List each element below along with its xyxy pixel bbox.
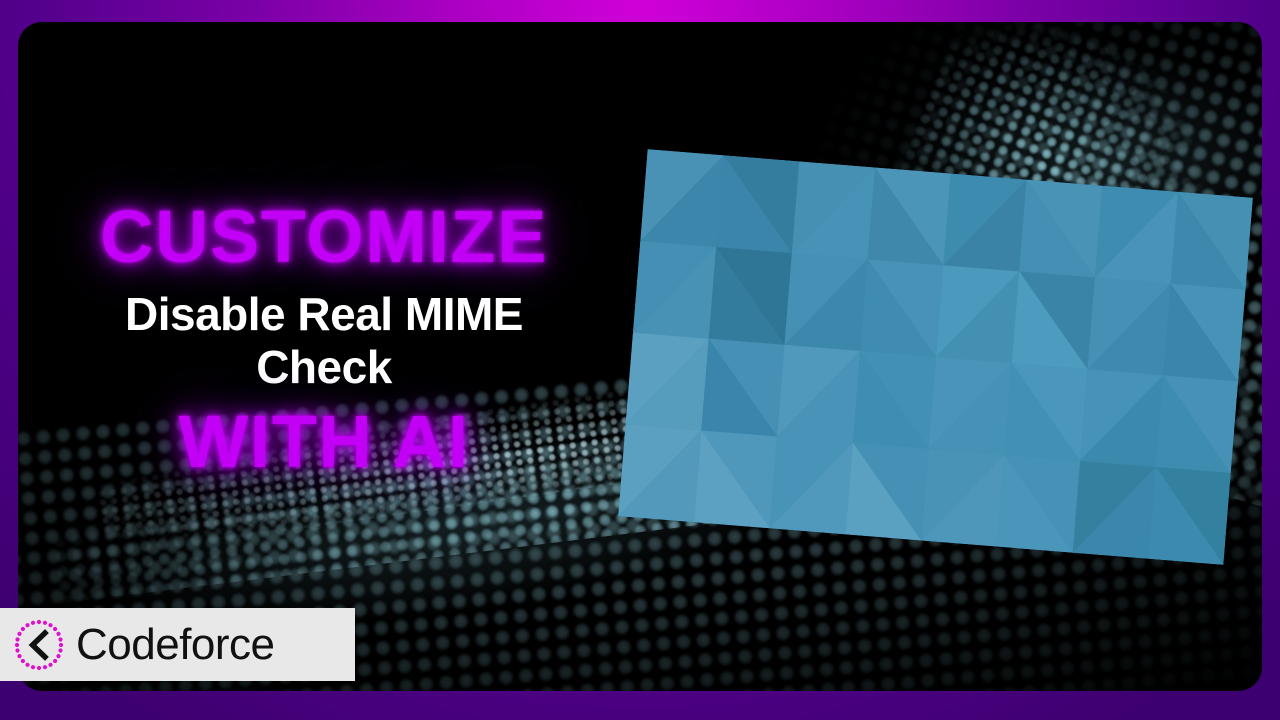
thumbnail-frame: CUSTOMIZE Disable Real MIME Check WITH A… — [0, 0, 1280, 720]
brand-name: Codeforce — [76, 623, 275, 667]
content-stage: CUSTOMIZE Disable Real MIME Check WITH A… — [18, 22, 1262, 691]
headline-primary: CUSTOMIZE — [54, 200, 594, 274]
headline-subtitle-line-2: Check — [54, 341, 594, 394]
brand-badge[interactable]: Codeforce — [0, 608, 355, 681]
headline-subtitle: Disable Real MIME Check — [54, 288, 594, 395]
headline-subtitle-line-1: Disable Real MIME — [54, 288, 594, 341]
headline-secondary: WITH AI — [54, 405, 594, 479]
brand-logo — [12, 618, 66, 672]
low-poly-blue-panel — [618, 149, 1253, 564]
back-chevron-dotted-circle-icon — [12, 618, 66, 672]
headline-block: CUSTOMIZE Disable Real MIME Check WITH A… — [54, 200, 594, 479]
low-poly-pattern-icon — [618, 149, 1253, 564]
